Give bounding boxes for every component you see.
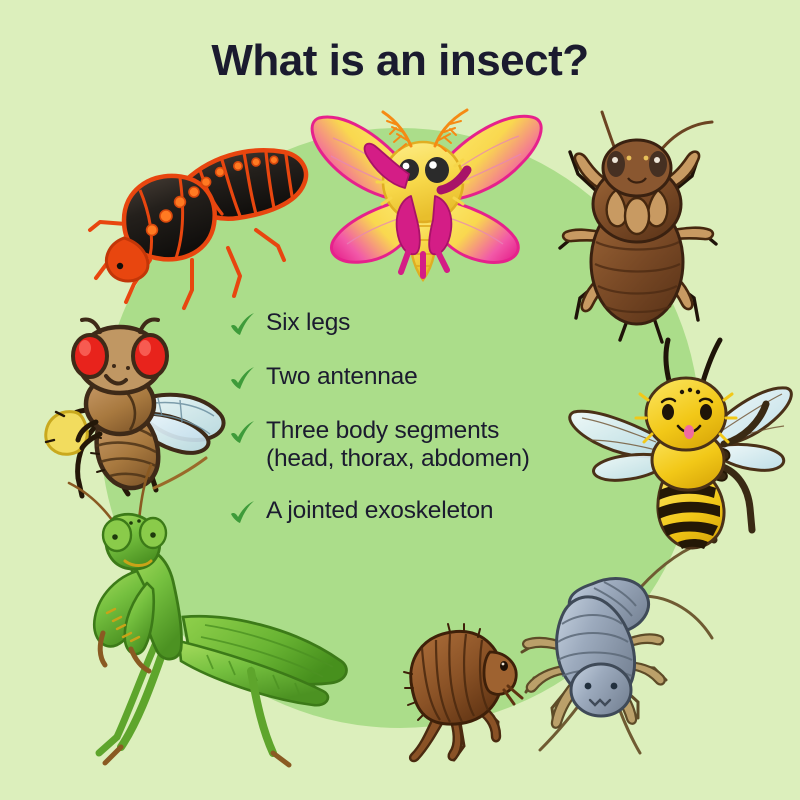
trait-item-three-body-segments: Three body segments (head, thorax, abdom…	[228, 416, 628, 474]
trait-item-jointed-exoskeleton: A jointed exoskeleton	[228, 496, 628, 528]
flea-illustration	[378, 618, 533, 763]
check-icon	[228, 364, 258, 394]
check-icon	[228, 498, 258, 528]
trait-item-six-legs: Six legs	[228, 308, 628, 340]
infographic-canvas: What is an insect? Six legs Two antennae…	[0, 0, 800, 800]
silverfish-illustration	[518, 538, 718, 753]
check-icon	[228, 418, 258, 448]
trait-label: A jointed exoskeleton	[266, 496, 493, 525]
trait-label: Two antennae	[266, 362, 418, 391]
beetle-larva-illustration	[88, 126, 318, 316]
trait-label: Three body segments (head, thorax, abdom…	[266, 416, 530, 474]
check-icon	[228, 310, 258, 340]
trait-item-two-antennae: Two antennae	[228, 362, 628, 394]
page-title: What is an insect?	[0, 36, 800, 86]
trait-label: Six legs	[266, 308, 350, 337]
insect-traits-list: Six legs Two antennae Three body segment…	[228, 308, 628, 550]
rosy-maple-moth-illustration	[305, 104, 545, 294]
